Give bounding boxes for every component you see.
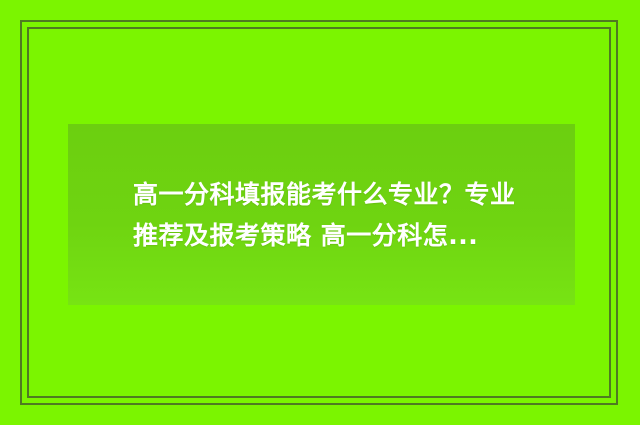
poster-canvas: 高一分科填报能考什么专业？专业 推荐及报考策略 高一分科怎... (0, 0, 640, 425)
caption-line-1: 高一分科填报能考什么专业？专业 (133, 174, 511, 215)
caption-line-2: 推荐及报考策略 高一分科怎... (133, 215, 511, 256)
caption-text-block: 高一分科填报能考什么专业？专业 推荐及报考策略 高一分科怎... (68, 174, 575, 256)
caption-overlay-band: 高一分科填报能考什么专业？专业 推荐及报考策略 高一分科怎... (68, 124, 575, 305)
